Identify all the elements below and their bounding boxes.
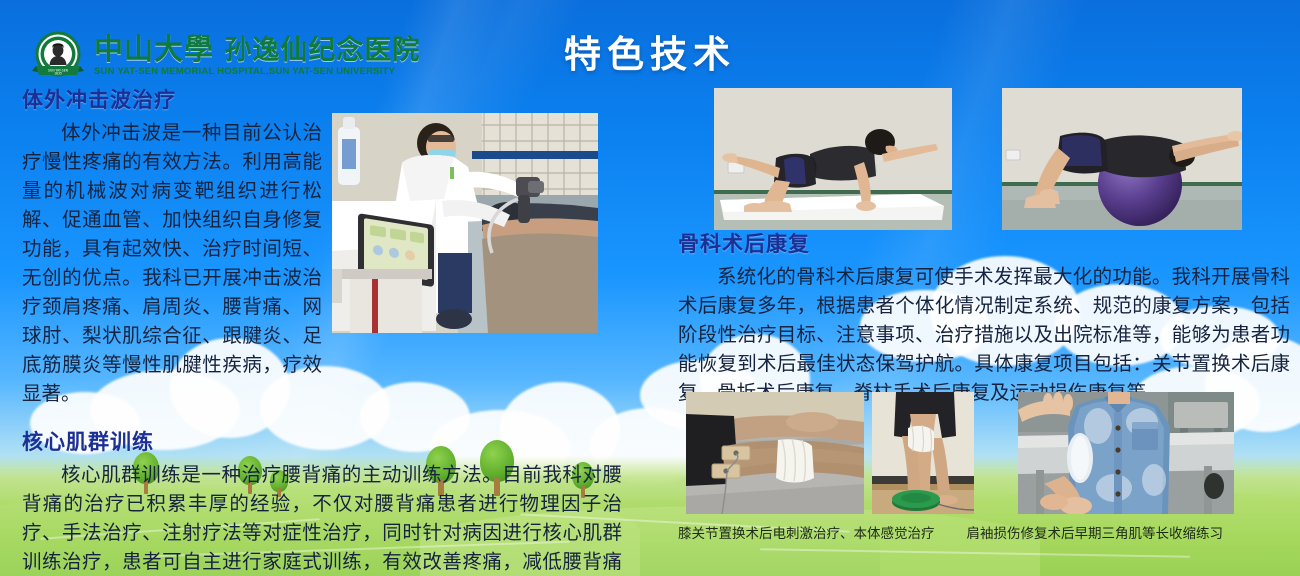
section-heading: 骨科术后康复 (678, 228, 1290, 258)
right-content-column: 骨科术后康复 系统化的骨科术后康复可使手术发挥最大化的功能。我科开展骨科术后康复… (678, 228, 1290, 407)
swiss-ball-bridge-photo (1002, 88, 1242, 230)
page-title: 特色技术 (0, 24, 1300, 78)
photo-captions: 膝关节置换术后电刺激治疗、本体感觉治疗 肩袖损伤修复术后早期三角肌等长收缩练习 (678, 522, 1294, 542)
shoulder-isometric-photo (1018, 392, 1234, 514)
section-heading: 体外冲击波治疗 (22, 84, 632, 114)
section-body: 体外冲击波是一种目前公认治疗慢性疼痛的有效方法。利用高能量的机械波对病变靶组织进… (22, 118, 322, 408)
section-heading: 核心肌群训练 (22, 426, 632, 456)
section-body: 核心肌群训练是一种治疗腰背痛的主动训练方法。目前我科对腰背痛的治疗已积累丰厚的经… (22, 460, 622, 576)
bird-dog-exercise-photo (714, 88, 952, 230)
poster-canvas: 中山大学孙逸仙纪念医院 SUN YAT-SEN 1835 中山大學 孙逸仙纪念医… (0, 0, 1300, 576)
section-post-op-rehab: 骨科术后康复 系统化的骨科术后康复可使手术发挥最大化的功能。我科开展骨科术后康复… (678, 228, 1290, 407)
caption-shoulder-rehab: 肩袖损伤修复术后早期三角肌等长收缩练习 (967, 522, 1224, 542)
caption-knee-rehab: 膝关节置换术后电刺激治疗、本体感觉治疗 (678, 522, 935, 542)
section-body: 系统化的骨科术后康复可使手术发挥最大化的功能。我科开展骨科术后康复多年，根据患者… (678, 262, 1290, 407)
section-core-muscle-training: 核心肌群训练 核心肌群训练是一种治疗腰背痛的主动训练方法。目前我科对腰背痛的治疗… (22, 426, 632, 576)
shockwave-therapy-photo (332, 113, 598, 333)
balance-board-photo (872, 392, 974, 514)
knee-electrical-stimulation-photo (686, 392, 864, 514)
